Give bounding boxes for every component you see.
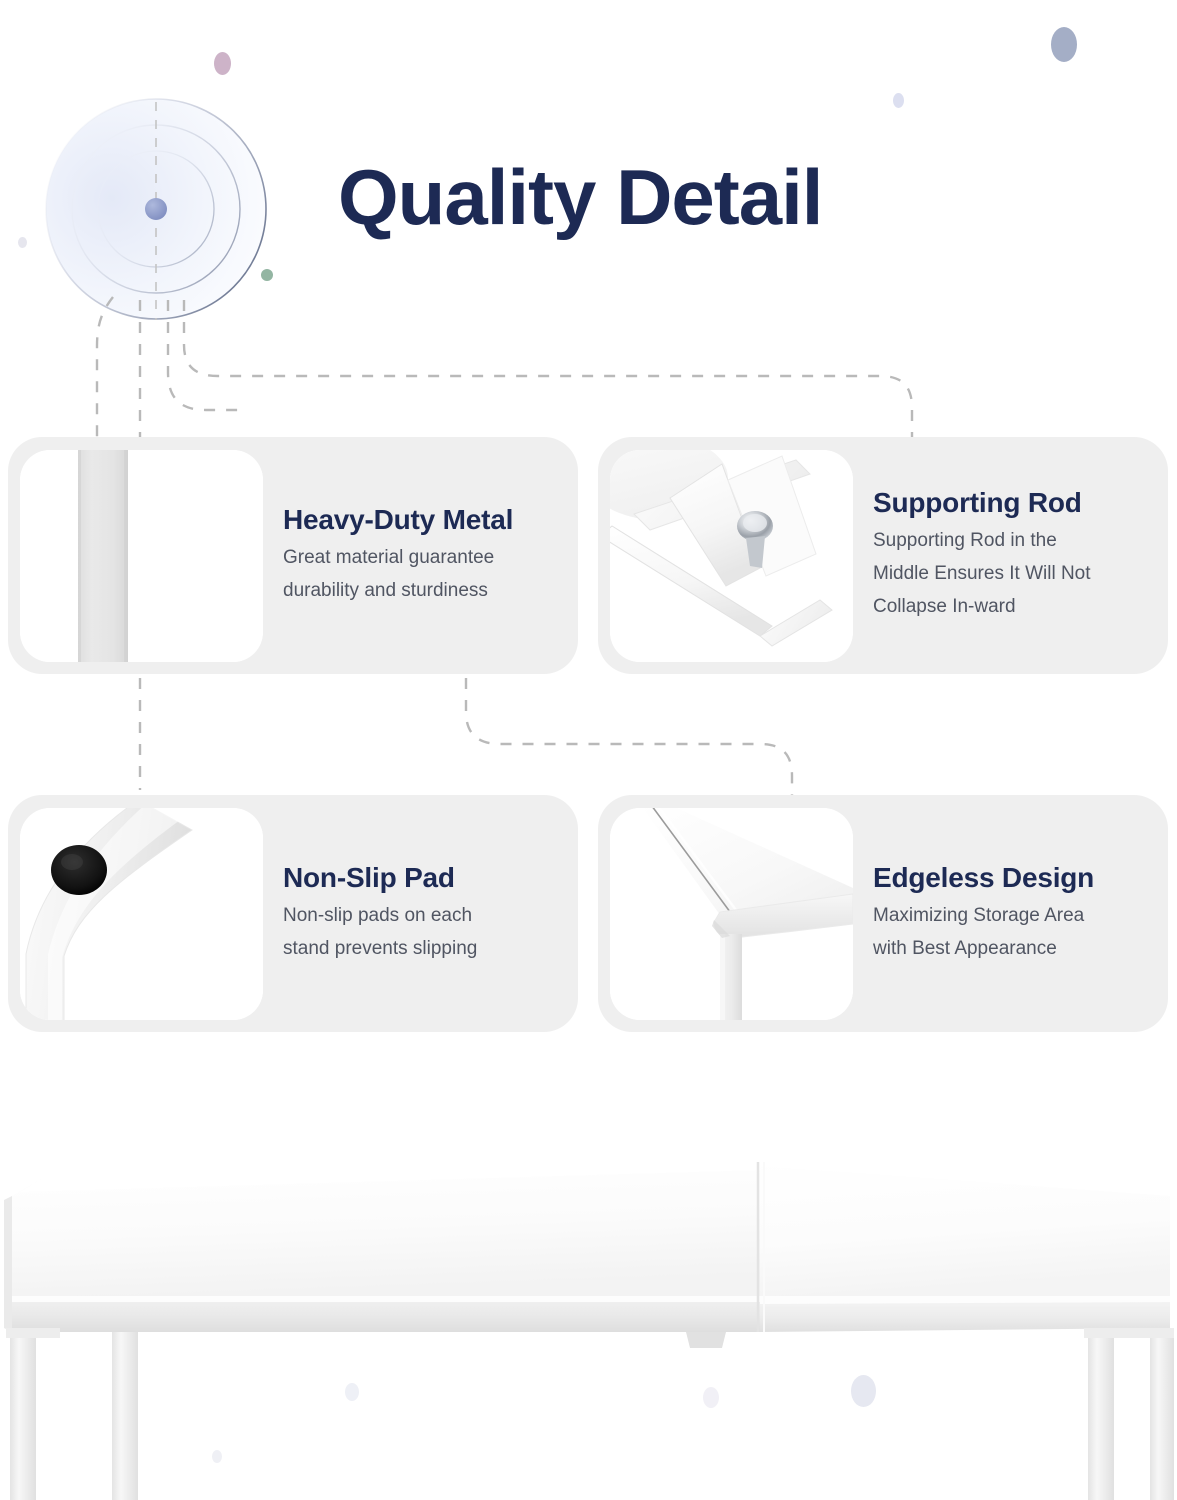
decorative-dot-lower-2 <box>703 1387 719 1408</box>
feature-card-supporting-rod[interactable]: Supporting Rod Supporting Rod in the Mid… <box>598 437 1168 674</box>
non-slip-pad-photo <box>20 808 263 1020</box>
decorative-dot-lower-4 <box>212 1450 222 1463</box>
metal-bar-photo <box>20 450 263 662</box>
supporting-rod-photo <box>610 450 853 662</box>
feature-title: Edgeless Design <box>873 862 1094 894</box>
feature-desc-line: Great material guarantee <box>283 542 513 575</box>
quality-detail-infographic: Quality Detail <box>0 0 1177 1500</box>
feature-description: Maximizing Storage Area with Best Appear… <box>873 900 1094 965</box>
feature-desc-line: stand prevents slipping <box>283 933 477 966</box>
feature-card-edgeless-design[interactable]: Edgeless Design Maximizing Storage Area … <box>598 795 1168 1032</box>
feature-desc-line: Maximizing Storage Area <box>873 900 1094 933</box>
feature-description: Non-slip pads on each stand prevents sli… <box>283 900 477 965</box>
feature-card-text: Non-Slip Pad Non-slip pads on each stand… <box>263 862 485 965</box>
feature-desc-line: Middle Ensures It Will Not <box>873 558 1091 591</box>
feature-desc-line: Non-slip pads on each <box>283 900 477 933</box>
edgeless-corner-photo <box>610 808 853 1020</box>
feature-desc-line: Supporting Rod in the <box>873 525 1091 558</box>
feature-card-text: Heavy-Duty Metal Great material guarante… <box>263 504 521 607</box>
feature-description: Great material guarantee durability and … <box>283 542 513 607</box>
feature-card-text: Edgeless Design Maximizing Storage Area … <box>853 862 1102 965</box>
expandable-white-shelf-photo <box>0 1100 1177 1500</box>
feature-desc-line: Collapse In-ward <box>873 591 1091 624</box>
feature-title: Supporting Rod <box>873 487 1091 519</box>
feature-card-text: Supporting Rod Supporting Rod in the Mid… <box>853 487 1099 623</box>
feature-card-heavy-duty-metal[interactable]: Heavy-Duty Metal Great material guarante… <box>8 437 578 674</box>
decorative-dot-lower-3 <box>851 1375 876 1407</box>
feature-card-non-slip-pad[interactable]: Non-Slip Pad Non-slip pads on each stand… <box>8 795 578 1032</box>
feature-description: Supporting Rod in the Middle Ensures It … <box>873 525 1091 623</box>
feature-desc-line: with Best Appearance <box>873 933 1094 966</box>
decorative-dot-lower-1 <box>345 1383 359 1401</box>
feature-title: Non-Slip Pad <box>283 862 477 894</box>
feature-desc-line: durability and sturdiness <box>283 575 513 608</box>
feature-title: Heavy-Duty Metal <box>283 504 513 536</box>
